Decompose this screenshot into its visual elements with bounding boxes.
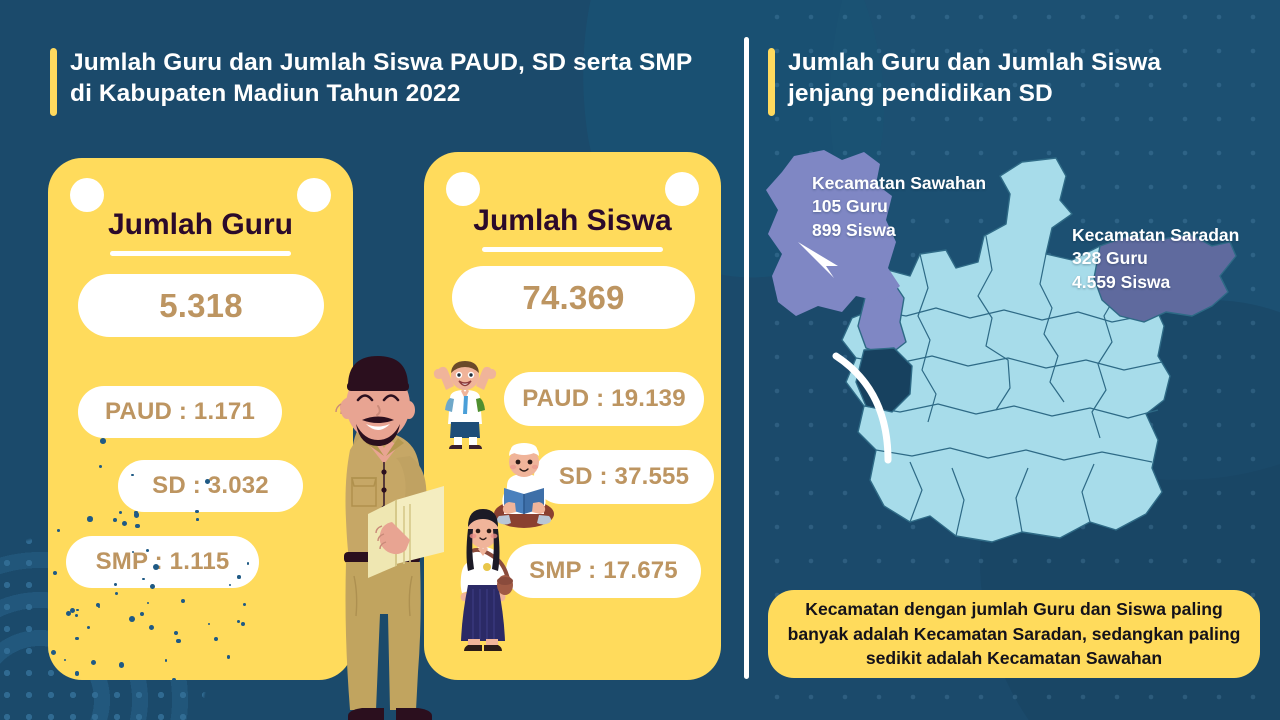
card-guru-underline: [110, 251, 291, 256]
student-boy-cheering-illustration: [430, 360, 500, 452]
card-guru-title: Jumlah Guru: [48, 208, 353, 242]
card-guru-row-paud: PAUD : 1.171: [78, 386, 282, 438]
map-label-saradan: Kecamatan Saradan 328 Guru 4.559 Siswa: [1072, 224, 1239, 294]
card-siswa-underline: [482, 247, 663, 252]
map-caption-text: Kecamatan dengan jumlah Guru dan Siswa p…: [782, 597, 1246, 672]
card-siswa-row-sd: SD : 37.555: [534, 450, 714, 504]
card-punch-hole-left-icon: [70, 178, 104, 212]
left-title-accent-bar: [50, 48, 57, 116]
left-page-title: Jumlah Guru dan Jumlah Siswa PAUD, SD se…: [70, 48, 720, 110]
student-girl-illustration: [450, 505, 516, 655]
card-guru-row-sd: SD : 3.032: [118, 460, 303, 512]
map-label-sawahan: Kecamatan Sawahan 105 Guru 899 Siswa: [812, 172, 986, 242]
infographic-canvas: Jumlah Guru dan Jumlah Siswa PAUD, SD se…: [0, 0, 1280, 720]
card-punch-hole-right-icon: [665, 172, 699, 206]
map-label-saradan-name: Kecamatan Saradan: [1072, 224, 1239, 247]
map-label-sawahan-siswa: 899 Siswa: [812, 219, 986, 242]
right-title-accent-bar: [768, 48, 775, 116]
card-siswa-row-smp: SMP : 17.675: [506, 544, 701, 598]
card-punch-hole-right-icon: [297, 178, 331, 212]
map-label-sawahan-guru: 105 Guru: [812, 195, 986, 218]
vertical-divider: [744, 37, 749, 679]
map-label-saradan-siswa: 4.559 Siswa: [1072, 271, 1239, 294]
card-siswa-title: Jumlah Siswa: [424, 204, 721, 238]
card-guru-row-smp: SMP : 1.115: [66, 536, 259, 588]
map-label-sawahan-name: Kecamatan Sawahan: [812, 172, 986, 195]
card-siswa-row-paud: PAUD : 19.139: [504, 372, 704, 426]
map-caption-box: Kecamatan dengan jumlah Guru dan Siswa p…: [768, 590, 1260, 678]
map-label-saradan-guru: 328 Guru: [1072, 247, 1239, 270]
card-siswa-total-value: 74.369: [452, 266, 695, 329]
right-page-title: Jumlah Guru dan Jumlah Siswa jenjang pen…: [788, 48, 1248, 110]
card-punch-hole-left-icon: [446, 172, 480, 206]
madiun-regency-map: Kecamatan Sawahan 105 Guru 899 Siswa Kec…: [760, 150, 1272, 570]
